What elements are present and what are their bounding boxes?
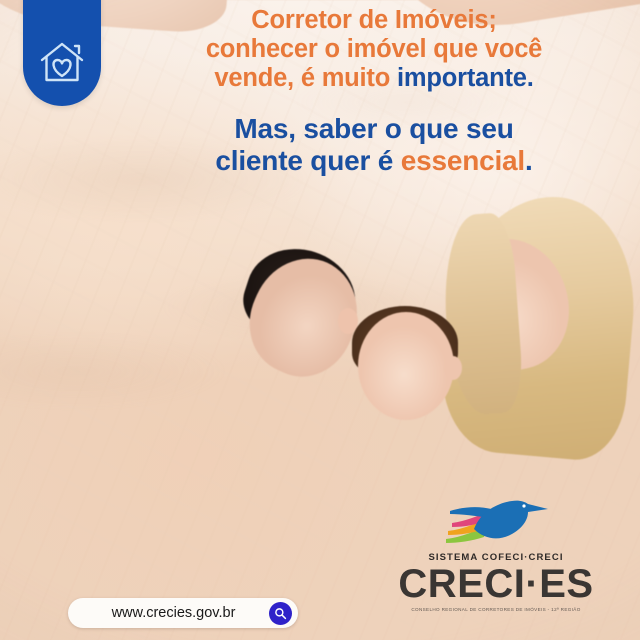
headline-line-5: cliente quer é essencial. xyxy=(120,145,628,177)
headline-emphasis: essencial xyxy=(401,145,525,176)
search-button[interactable] xyxy=(269,602,292,625)
headline-text: cliente quer é xyxy=(215,145,400,176)
headline-text: . xyxy=(525,145,533,176)
headline-line-3: vende, é muito importante. xyxy=(120,64,628,93)
headline-line-4: Mas, saber o que seu xyxy=(120,113,628,145)
headline-block-1: Corretor de Imóveis; conhecer o imóvel q… xyxy=(120,6,628,93)
brand-badge xyxy=(23,0,101,106)
headline-text: vende, é muito xyxy=(214,64,397,92)
hummingbird-wrap xyxy=(396,487,596,549)
headline: Corretor de Imóveis; conhecer o imóvel q… xyxy=(120,6,628,177)
headline-line-1: Corretor de Imóveis; xyxy=(120,6,628,35)
headline-text: Corretor de Imóveis; xyxy=(251,6,496,34)
headline-text: conhecer o imóvel que você xyxy=(206,35,542,63)
headline-block-2: Mas, saber o que seu cliente quer é esse… xyxy=(120,113,628,177)
hummingbird-icon xyxy=(440,487,552,549)
headline-text: Mas, saber o que seu xyxy=(234,113,513,144)
website-url-text: www.crecies.gov.br xyxy=(68,605,269,621)
toddler-ear xyxy=(444,356,462,380)
toddler-face xyxy=(358,312,454,420)
creci-title: CRECI·ES xyxy=(396,564,596,604)
headline-line-2: conhecer o imóvel que você xyxy=(120,35,628,64)
headline-text: . xyxy=(527,64,534,92)
search-icon xyxy=(274,607,287,620)
creci-fine-print: CONSELHO REGIONAL DE CORRETORES DE IMÓVE… xyxy=(396,607,596,612)
website-url-bar[interactable]: www.crecies.gov.br xyxy=(68,598,298,628)
social-media-poster: Corretor de Imóveis; conhecer o imóvel q… xyxy=(0,0,640,640)
headline-emphasis: importante xyxy=(397,64,527,92)
creci-logo: SISTEMA COFECI·CRECI CRECI·ES CONSELHO R… xyxy=(396,487,596,612)
house-heart-icon xyxy=(38,40,86,84)
